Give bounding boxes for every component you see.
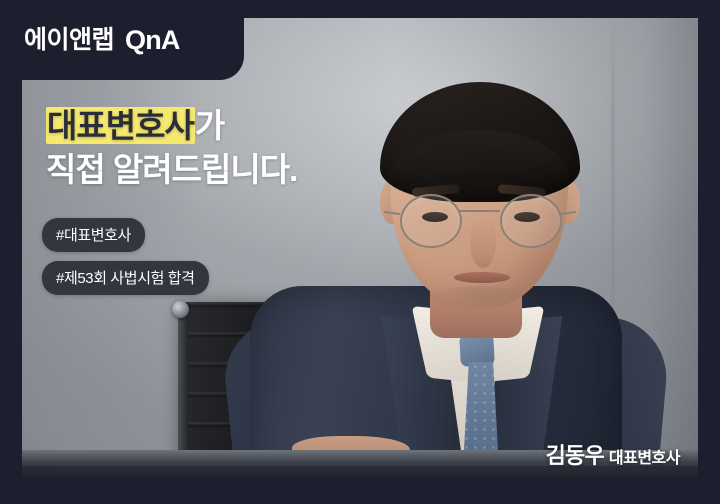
brand-header-tab: 에이앤랩 QnA xyxy=(0,0,244,80)
mouth xyxy=(454,272,510,283)
glasses-lens-left xyxy=(400,194,462,248)
credit-name: 김동우 xyxy=(546,438,604,470)
chin-shadow xyxy=(426,286,532,312)
hair xyxy=(380,82,580,202)
credit-role: 대표변호사 xyxy=(609,444,680,468)
brand-logo-english: QnA xyxy=(125,27,180,54)
qna-promo-card: 에이앤랩 QnA 대표변호사가 직접 알려드립니다. #대표변호사 #제53회 … xyxy=(0,0,720,504)
hashtag-row-1: #대표변호사 xyxy=(42,218,209,261)
headline-block: 대표변호사가 직접 알려드립니다. xyxy=(46,104,297,192)
brand-logo-korean: 에이앤랩 xyxy=(24,28,114,53)
glasses-lens-right xyxy=(500,194,562,248)
necktie-knot xyxy=(459,333,495,367)
glasses-bridge xyxy=(458,210,500,212)
hashtag-row-2: #제53회 사법시험 합격 xyxy=(42,261,209,304)
headline-line-2: 직접 알려드립니다. xyxy=(46,148,297,192)
glasses-icon xyxy=(388,194,572,246)
hashtag-pill[interactable]: #제53회 사법시험 합격 xyxy=(42,261,209,295)
hashtag-pill[interactable]: #대표변호사 xyxy=(42,218,145,252)
headline-line-1: 대표변호사가 xyxy=(46,104,297,148)
headline-accent: 대표변호사 xyxy=(46,107,195,144)
hashtag-list: #대표변호사 #제53회 사법시험 합격 xyxy=(42,218,209,304)
person-credit: 김동우 대표변호사 xyxy=(546,438,680,470)
headline-accent-suffix: 가 xyxy=(195,107,224,144)
